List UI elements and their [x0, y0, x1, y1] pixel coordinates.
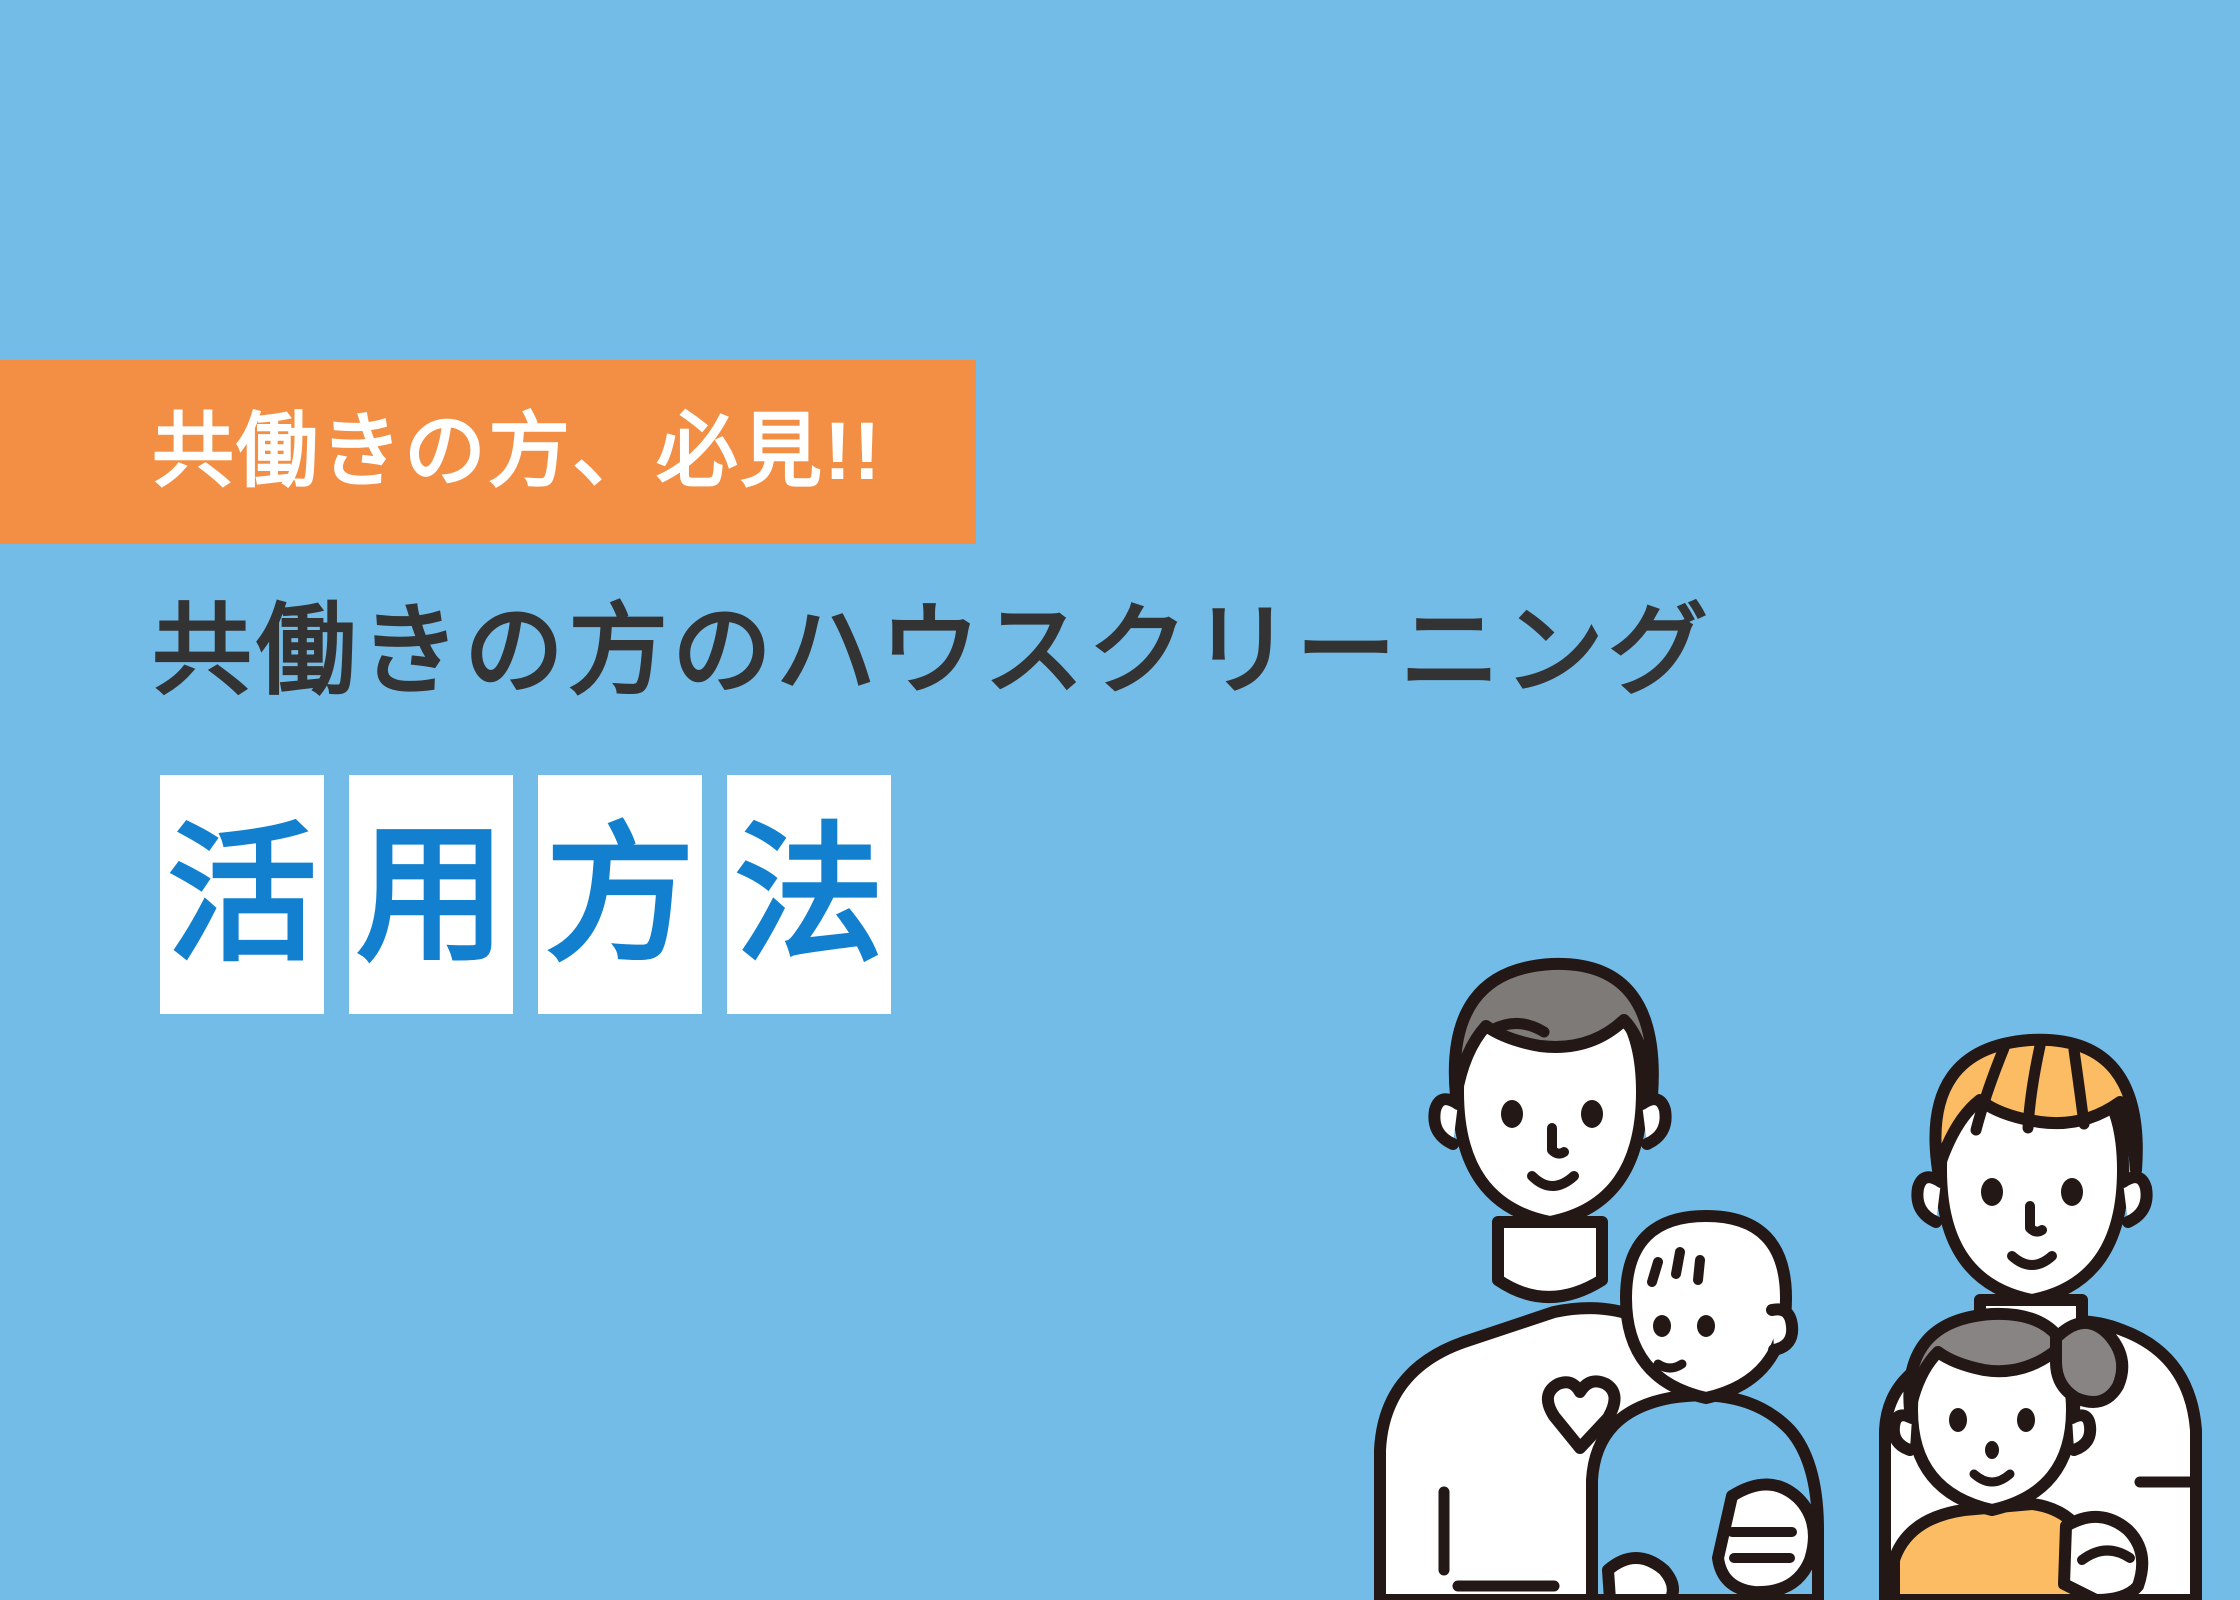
- baby-head: [1626, 1216, 1786, 1398]
- father-eye-left: [1501, 1100, 1523, 1128]
- promo-banner: 共働きの方、必見!! 共働きの方のハウスクリーニング 活 用 方 法: [0, 0, 2240, 1600]
- girl-eye-right: [2017, 1408, 2035, 1432]
- father-hand: [1718, 1484, 1814, 1592]
- baby-hair-tuft-2: [1676, 1252, 1680, 1274]
- keyword-char-2: 用: [356, 820, 506, 970]
- family-illustration-svg: [1340, 870, 2240, 1600]
- keyword-box-2: 用: [349, 775, 513, 1014]
- mother-eye-right: [2061, 1178, 2083, 1206]
- father-eye-right: [1581, 1100, 1603, 1128]
- baby-hair-tuft-1: [1652, 1262, 1658, 1282]
- baby-eye-right: [1697, 1315, 1715, 1337]
- girl-eye-left: [1949, 1408, 1967, 1432]
- keyword-char-4: 法: [734, 820, 884, 970]
- girl-ear-left: [1894, 1415, 1912, 1450]
- keyword-char-1: 活: [167, 820, 317, 970]
- girl-ponytail: [2056, 1323, 2122, 1402]
- father-ear-left: [1434, 1099, 1458, 1144]
- keyword-box-3: 方: [538, 775, 702, 1014]
- headline-text: 共働きの方のハウスクリーニング: [152, 596, 1712, 706]
- eyebrow-ribbon: 共働きの方、必見!!: [0, 360, 976, 544]
- girl-ear-right: [2072, 1415, 2090, 1450]
- eyebrow-text: 共働きの方、必見!!: [152, 411, 883, 493]
- mother-eye-left: [1981, 1178, 2003, 1206]
- girl-nose: [1985, 1441, 1999, 1459]
- baby-eye-left: [1653, 1315, 1671, 1337]
- baby-mouth: [1658, 1364, 1682, 1368]
- baby-ear: [1772, 1309, 1792, 1350]
- baby-hair-tuft-3: [1698, 1260, 1700, 1280]
- father-neck: [1498, 1222, 1602, 1297]
- family-illustration: [1340, 870, 2240, 1600]
- mother-ear-right: [2123, 1177, 2147, 1222]
- keyword-box-1: 活: [160, 775, 324, 1014]
- keyword-boxes: 活 用 方 法: [160, 775, 891, 1014]
- keyword-char-3: 方: [545, 820, 695, 970]
- baby-foot: [1608, 1558, 1673, 1600]
- father-ear-right: [1642, 1099, 1666, 1144]
- keyword-box-4: 法: [727, 775, 891, 1014]
- mother-ear-left: [1917, 1177, 1941, 1222]
